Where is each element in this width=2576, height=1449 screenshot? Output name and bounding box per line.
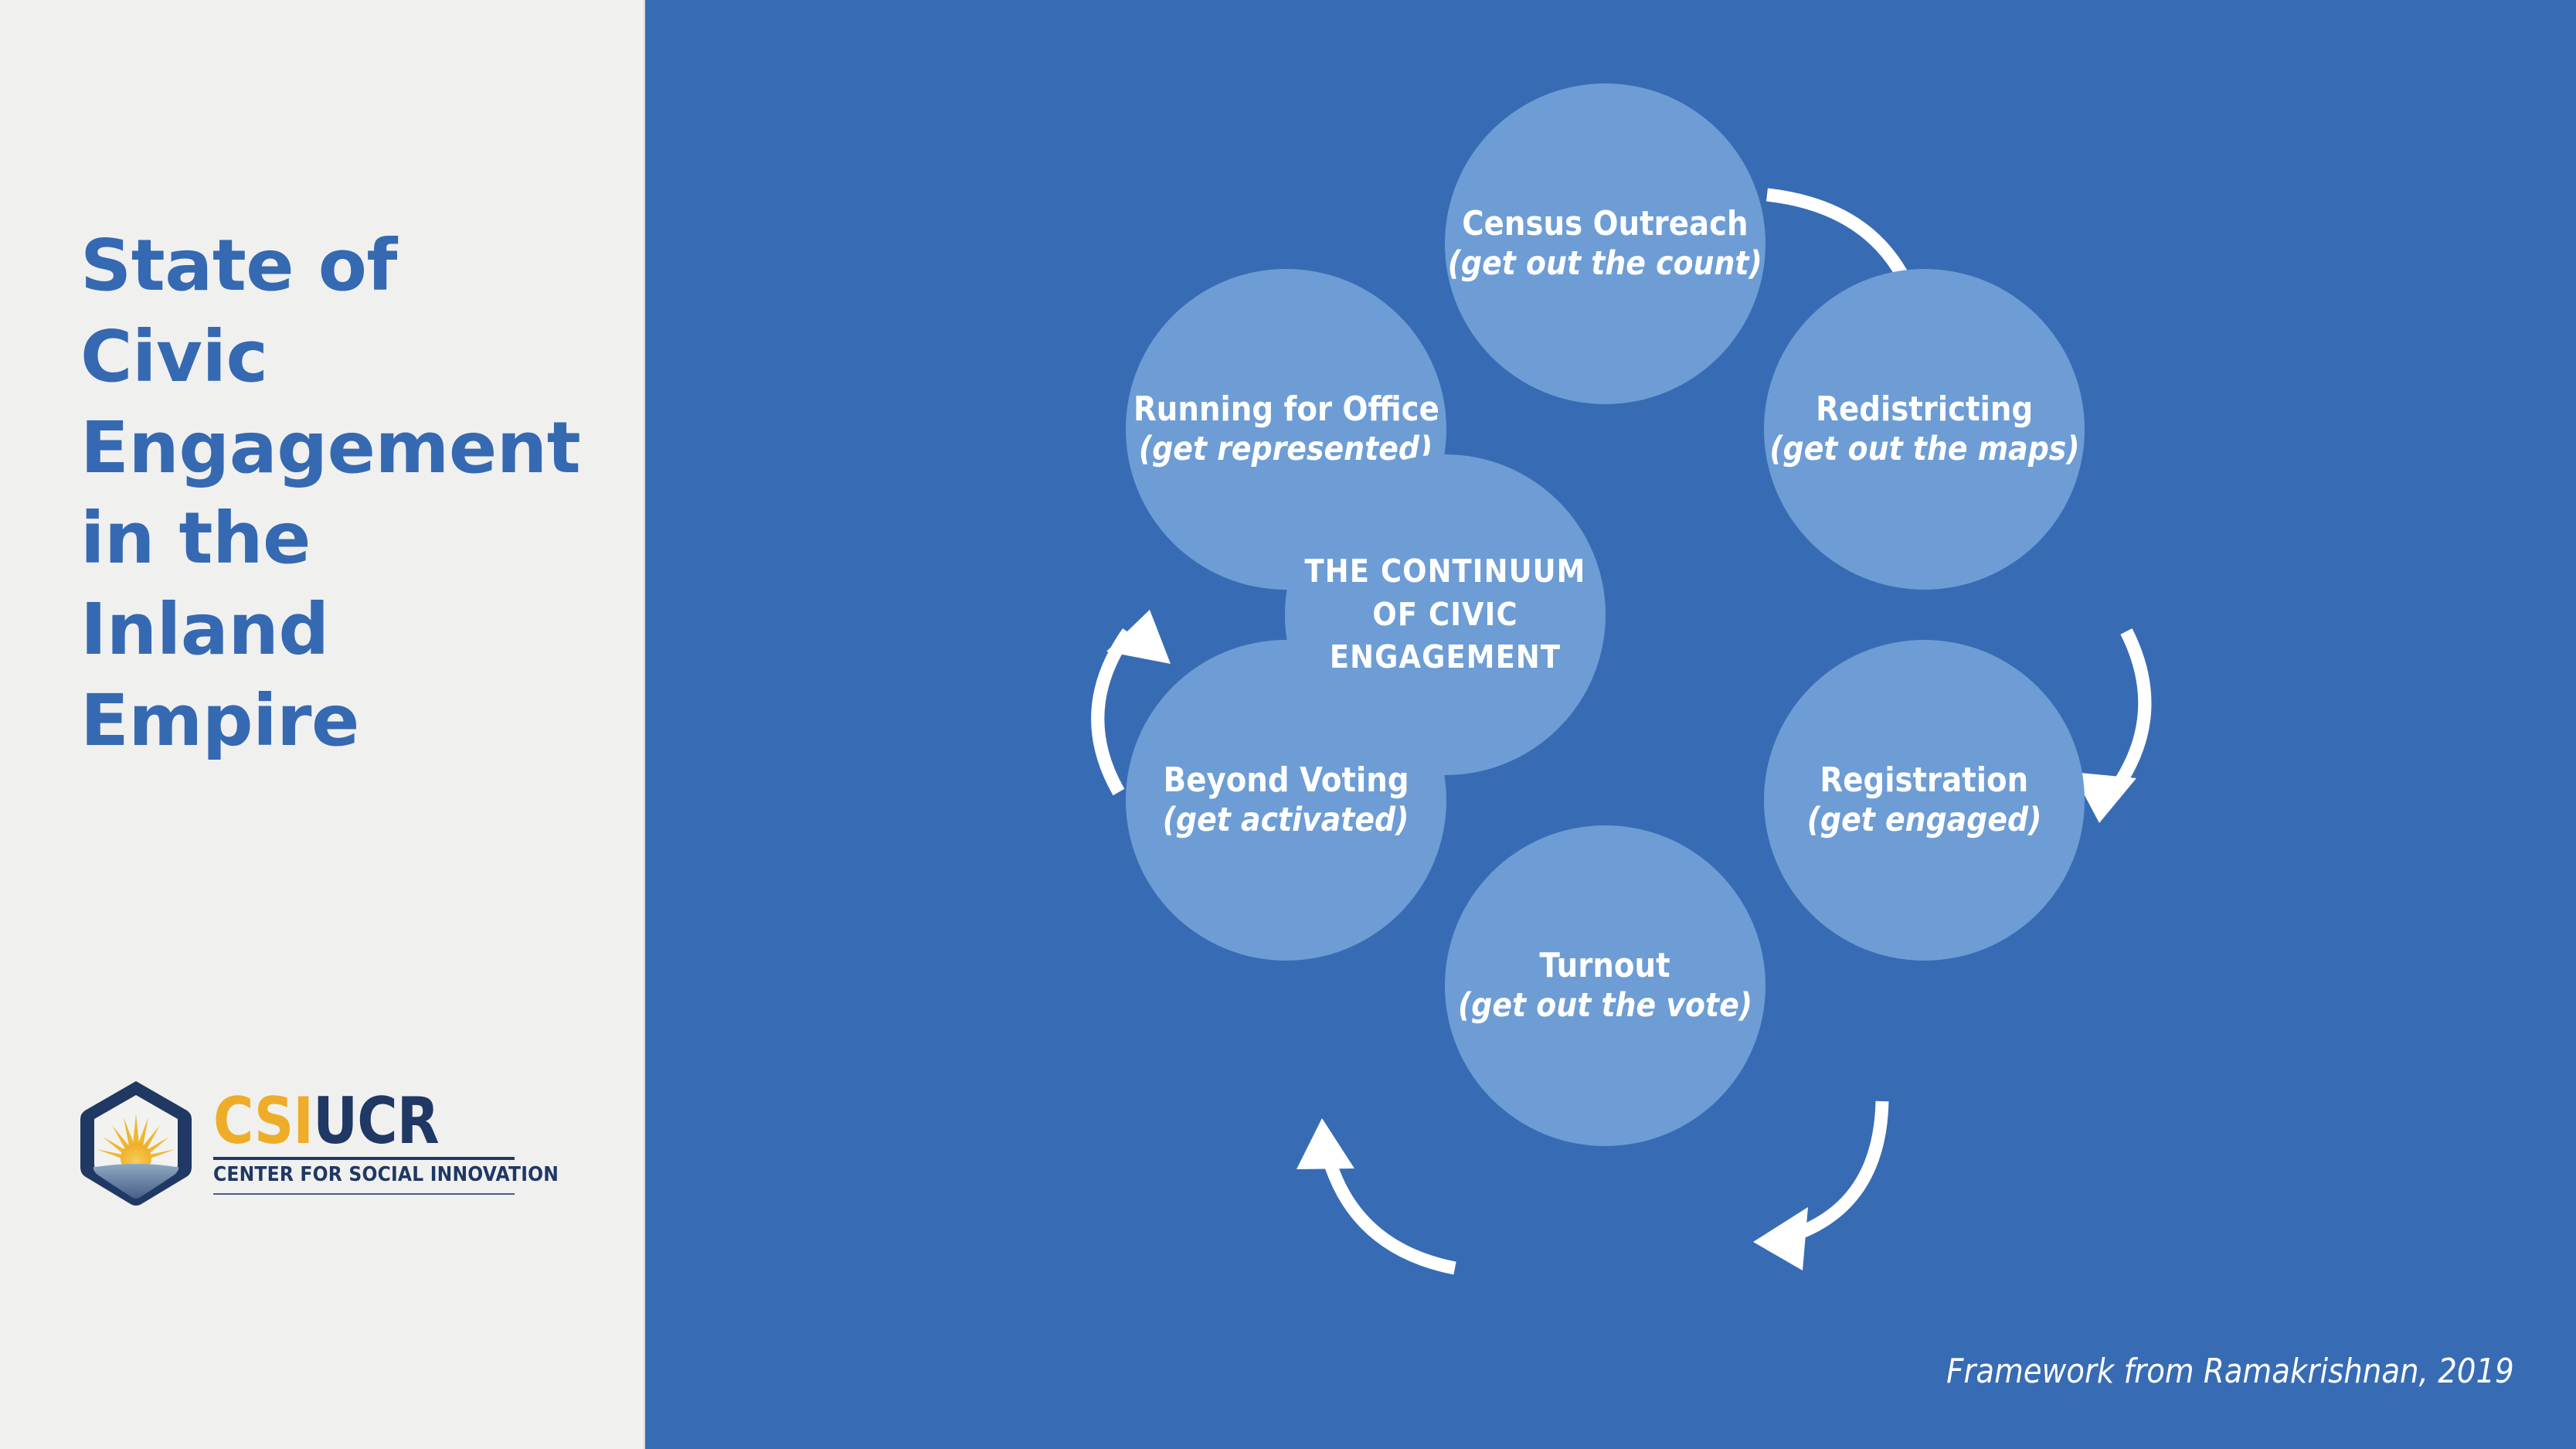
logo-wordmark: CSIUCR CENTER FOR SOCIAL INNOVATION	[213, 1089, 515, 1195]
logo-ucr-text: UCR	[313, 1083, 439, 1158]
attribution-text: Framework from Ramakrishnan, 2019	[1946, 1352, 2514, 1391]
arrow-registration-to-turnout	[1753, 1101, 1882, 1270]
node-redistricting[interactable]: Redistricting (get out the maps)	[1764, 269, 2085, 590]
csi-ucr-logo: CSIUCR CENTER FOR SOCIAL INNOVATION	[77, 1078, 518, 1225]
node-subtitle: (get out the vote)	[1458, 987, 1752, 1024]
node-title: Registration	[1820, 762, 2029, 799]
slide-canvas: State of Civic Engagement in the Inland …	[0, 0, 2576, 1449]
node-registration[interactable]: Registration (get engaged)	[1764, 640, 2085, 961]
hexagon-sunrise-icon	[77, 1078, 195, 1213]
node-title: Running for Office	[1133, 391, 1439, 428]
node-turnout[interactable]: Turnout (get out the vote)	[1445, 825, 1765, 1146]
node-subtitle: (get activated)	[1163, 801, 1409, 838]
diagram-panel: Census Outreach (get out the count) Redi…	[645, 0, 2576, 1449]
node-title: Turnout	[1540, 947, 1670, 985]
node-subtitle: (get represented)	[1139, 430, 1432, 468]
page-title: State of Civic Engagement in the Inland …	[80, 220, 621, 767]
center-label: THE CONTINUUM OF CIVIC ENGAGEMENT	[1301, 550, 1590, 679]
node-census-outreach[interactable]: Census Outreach (get out the count)	[1445, 83, 1765, 404]
node-title: Beyond Voting	[1164, 762, 1409, 799]
node-subtitle: (get engaged)	[1807, 801, 2042, 838]
arrow-turnout-to-beyond-voting	[1296, 1118, 1455, 1268]
logo-brand-text: CSIUCR	[213, 1089, 472, 1153]
node-title: Redistricting	[1816, 391, 2033, 428]
logo-rule-bottom	[213, 1193, 515, 1195]
node-subtitle: (get out the maps)	[1769, 430, 2079, 468]
left-title-panel: State of Civic Engagement in the Inland …	[0, 0, 645, 1449]
logo-tagline: CENTER FOR SOCIAL INNOVATION	[213, 1160, 491, 1190]
logo-csi-text: CSI	[213, 1083, 313, 1158]
node-center-continuum: THE CONTINUUM OF CIVIC ENGAGEMENT	[1285, 454, 1606, 775]
node-subtitle: (get out the count)	[1448, 245, 1762, 282]
node-title: Census Outreach	[1462, 206, 1748, 243]
